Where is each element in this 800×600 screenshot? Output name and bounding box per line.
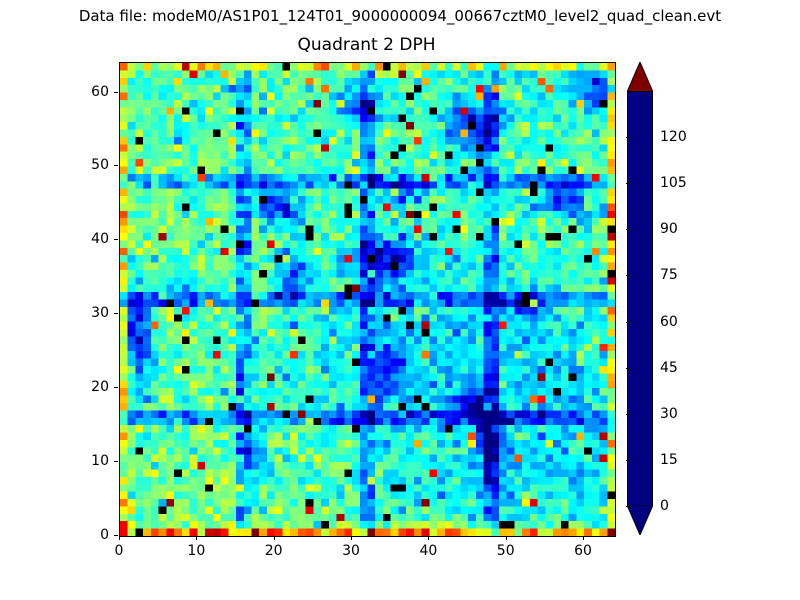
y-tick-label: 50 bbox=[71, 157, 109, 173]
colorbar-tick-mark bbox=[626, 183, 631, 184]
colorbar-tick-mark bbox=[626, 368, 631, 369]
y-tick-mark bbox=[114, 313, 118, 314]
y-tick-mark bbox=[114, 239, 118, 240]
colorbar-tick-label: 30 bbox=[660, 406, 678, 422]
x-tick-mark bbox=[428, 536, 429, 540]
colorbar-over-arrow-icon bbox=[627, 62, 653, 92]
colorbar-tick-label: 75 bbox=[660, 267, 678, 283]
colorbar-under-arrow-icon bbox=[627, 505, 653, 535]
y-tick-mark bbox=[114, 92, 118, 93]
colorbar-tick-label: 90 bbox=[660, 221, 678, 237]
colorbar-tick-label: 105 bbox=[660, 175, 687, 191]
colorbar-tick-label: 60 bbox=[660, 314, 678, 330]
x-tick-label: 40 bbox=[419, 543, 437, 559]
colorbar-gradient bbox=[628, 92, 652, 505]
colorbar-under-arrow bbox=[627, 505, 653, 535]
datafile-label: Data file: modeM0/AS1P01_124T01_90000000… bbox=[0, 6, 800, 26]
x-tick-label: 60 bbox=[574, 543, 592, 559]
colorbar-tick-mark bbox=[626, 506, 631, 507]
heatmap-axes[interactable] bbox=[119, 62, 616, 537]
x-tick-mark bbox=[274, 536, 275, 540]
colorbar-tick-mark bbox=[626, 275, 631, 276]
x-tick-mark bbox=[351, 536, 352, 540]
colorbar[interactable] bbox=[627, 62, 653, 535]
x-tick-mark bbox=[506, 536, 507, 540]
y-tick-label: 20 bbox=[71, 379, 109, 395]
heatmap-image[interactable] bbox=[120, 63, 615, 536]
colorbar-tick-mark bbox=[626, 414, 631, 415]
colorbar-body[interactable] bbox=[627, 91, 653, 506]
y-tick-label: 60 bbox=[71, 84, 109, 100]
colorbar-tick-label: 45 bbox=[660, 360, 678, 376]
x-tick-label: 10 bbox=[187, 543, 205, 559]
x-tick-label: 30 bbox=[342, 543, 360, 559]
colorbar-tick-label: 0 bbox=[660, 498, 669, 514]
colorbar-tick-mark bbox=[626, 460, 631, 461]
y-tick-mark bbox=[114, 461, 118, 462]
colorbar-over-arrow bbox=[627, 62, 653, 92]
y-tick-mark bbox=[114, 535, 118, 536]
y-tick-label: 30 bbox=[71, 305, 109, 321]
colorbar-tick-label: 120 bbox=[660, 129, 687, 145]
colorbar-tick-mark bbox=[626, 229, 631, 230]
x-tick-mark bbox=[119, 536, 120, 540]
y-tick-mark bbox=[114, 387, 118, 388]
x-tick-label: 50 bbox=[497, 543, 515, 559]
colorbar-tick-mark bbox=[626, 322, 631, 323]
x-tick-label: 0 bbox=[115, 543, 124, 559]
y-tick-label: 0 bbox=[71, 527, 109, 543]
x-tick-mark bbox=[583, 536, 584, 540]
page-title: Quadrant 2 DPH bbox=[119, 34, 614, 56]
y-tick-label: 40 bbox=[71, 231, 109, 247]
y-tick-mark bbox=[114, 165, 118, 166]
colorbar-tick-label: 15 bbox=[660, 452, 678, 468]
x-tick-mark bbox=[196, 536, 197, 540]
x-tick-label: 20 bbox=[265, 543, 283, 559]
y-tick-label: 10 bbox=[71, 453, 109, 469]
colorbar-tick-mark bbox=[626, 137, 631, 138]
figure-canvas: Data file: modeM0/AS1P01_124T01_90000000… bbox=[0, 0, 800, 600]
